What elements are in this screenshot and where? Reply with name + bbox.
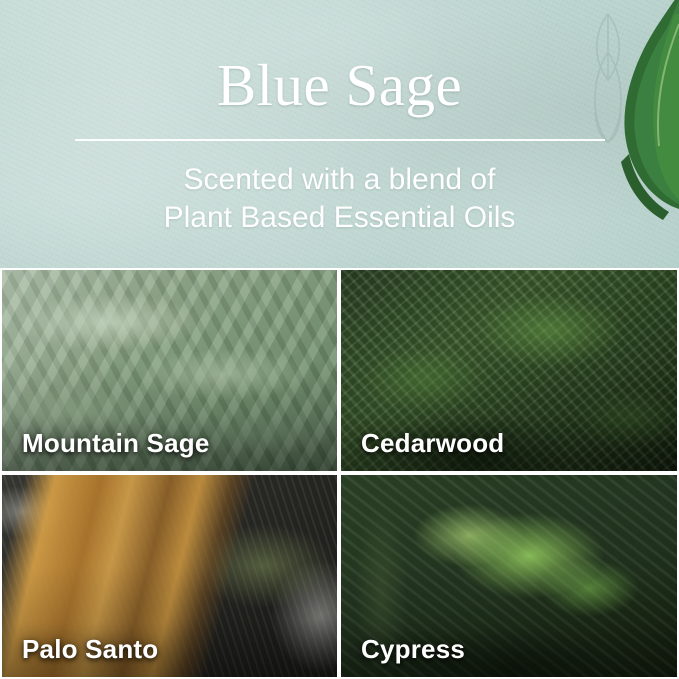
subtitle-line-1: Scented with a blend of [164, 161, 516, 199]
subtitle: Scented with a blend of Plant Based Esse… [164, 161, 516, 238]
ingredient-cell-palo-santo: Palo Santo [0, 473, 339, 679]
subtitle-line-2: Plant Based Essential Oils [164, 199, 516, 237]
ingredient-cell-mountain-sage: Mountain Sage [0, 268, 339, 473]
ingredient-grid: Mountain Sage Cedarwood Palo Santo Cypre… [0, 268, 679, 679]
page-title: Blue Sage [217, 55, 462, 117]
title-divider [75, 139, 605, 141]
product-scent-poster: Blue Sage Scented with a blend of Plant … [0, 0, 679, 679]
ingredient-caption: Mountain Sage [22, 428, 210, 459]
ingredient-caption: Palo Santo [22, 634, 158, 665]
ingredient-caption: Cedarwood [361, 428, 504, 459]
ingredient-cell-cypress: Cypress [339, 473, 679, 679]
ingredient-caption: Cypress [361, 634, 465, 665]
ingredient-cell-cedarwood: Cedarwood [339, 268, 679, 473]
title-block: Blue Sage Scented with a blend of Plant … [0, 0, 679, 268]
